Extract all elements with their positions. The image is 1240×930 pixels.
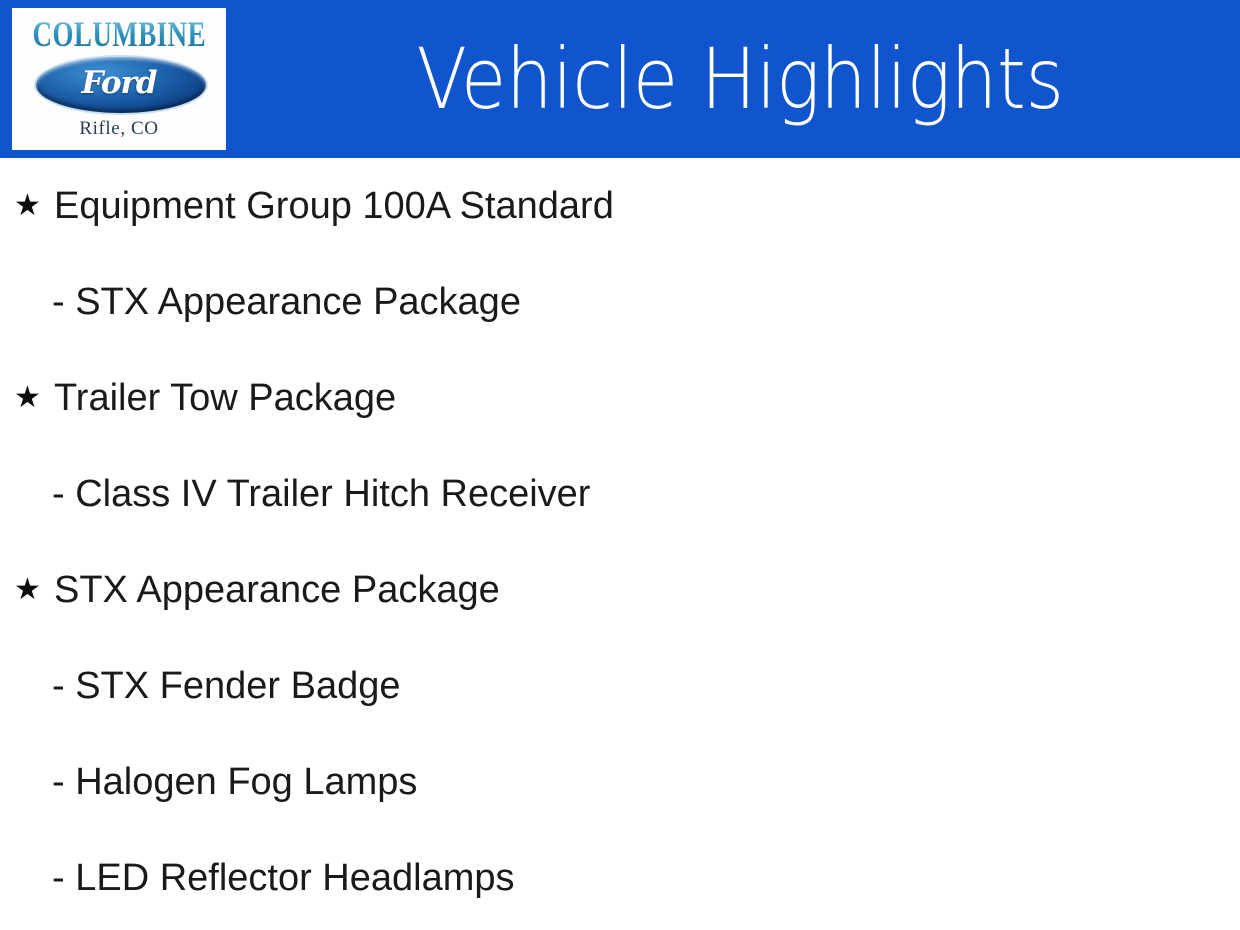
highlight-item-label: STX Appearance Package bbox=[54, 571, 500, 609]
highlight-subitem-label: - STX Fender Badge bbox=[52, 667, 401, 705]
highlight-item: ★Trailer Tow Package bbox=[0, 350, 1240, 446]
highlight-item: ★Equipment Group 100A Standard bbox=[0, 158, 1240, 254]
highlight-subitem: - STX Fender Badge bbox=[0, 638, 1240, 734]
highlight-subitem: - LED Reflector Headlamps bbox=[0, 830, 1240, 926]
highlights-list: ★Equipment Group 100A Standard- STX Appe… bbox=[0, 158, 1240, 930]
ford-oval-logo: Ford bbox=[34, 55, 204, 111]
logo-brand-text: COLUMBINE bbox=[32, 17, 206, 53]
highlight-item-label: Equipment Group 100A Standard bbox=[54, 187, 614, 225]
highlight-subitem: - Halogen Fog Lamps bbox=[0, 734, 1240, 830]
highlight-item-label: Trailer Tow Package bbox=[54, 379, 396, 417]
highlight-subitem-label: - Halogen Fog Lamps bbox=[52, 763, 417, 801]
star-bullet-icon: ★ bbox=[14, 575, 42, 605]
vehicle-highlights-slide: COLUMBINE Ford Rifle, CO Vehicle Highlig… bbox=[0, 0, 1240, 930]
star-bullet-icon: ★ bbox=[14, 191, 42, 221]
highlight-subitem: - Class IV Trailer Hitch Receiver bbox=[0, 446, 1240, 542]
star-bullet-icon: ★ bbox=[14, 383, 42, 413]
dealer-logo: COLUMBINE Ford Rifle, CO bbox=[12, 8, 226, 150]
header-bar: COLUMBINE Ford Rifle, CO Vehicle Highlig… bbox=[0, 0, 1240, 158]
highlight-subitem: - STX Appearance Package bbox=[0, 254, 1240, 350]
highlight-subitem-label: - STX Appearance Package bbox=[52, 283, 521, 321]
page-title: Vehicle Highlights bbox=[300, 0, 1180, 158]
highlight-subitem-label: - Class IV Trailer Hitch Receiver bbox=[52, 475, 590, 513]
highlight-item: ★STX Appearance Package bbox=[0, 542, 1240, 638]
logo-location-text: Rifle, CO bbox=[79, 118, 158, 140]
ford-wordmark: Ford bbox=[34, 55, 204, 111]
highlight-subitem-label: - LED Reflector Headlamps bbox=[52, 859, 515, 897]
